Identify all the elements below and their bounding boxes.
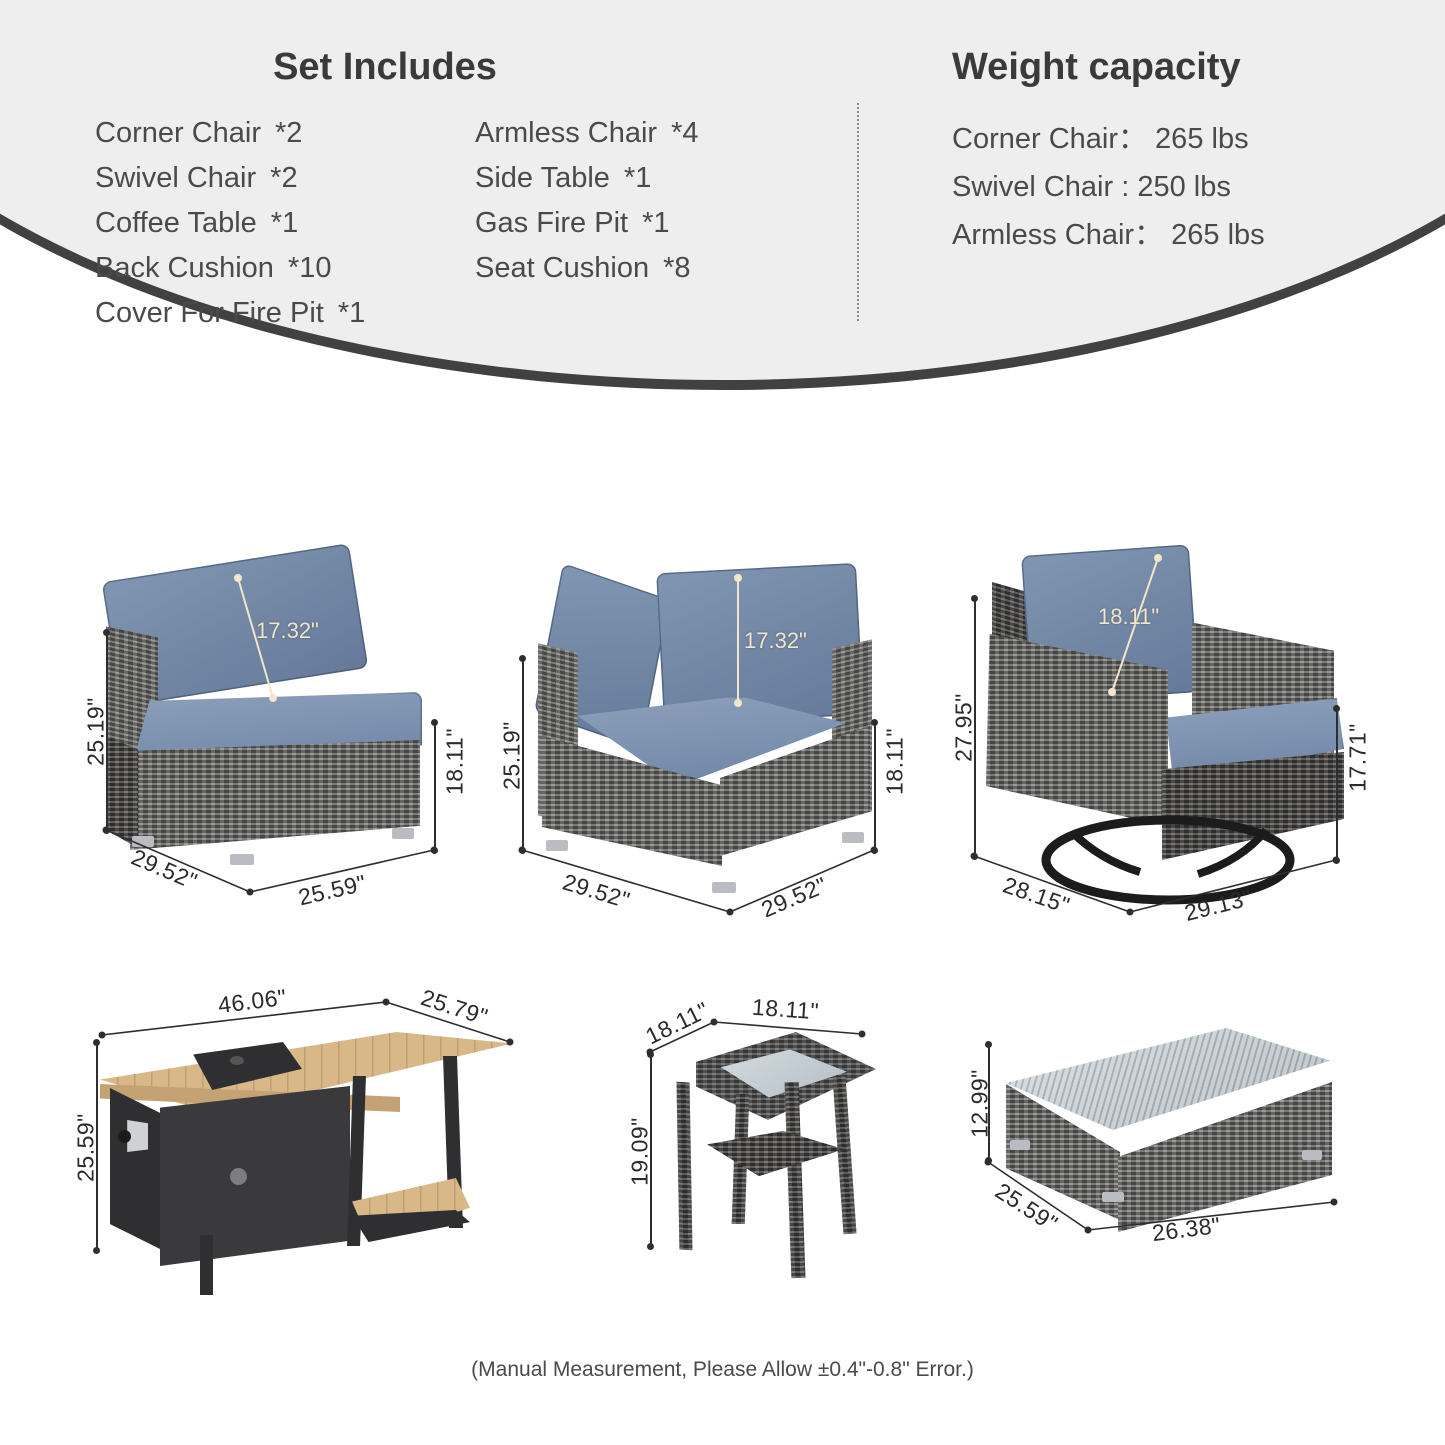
set-item-label: Gas Fire Pit: [475, 207, 628, 239]
list-item: Cover For Fire Pit*1: [95, 291, 475, 336]
dim-label-width: 18.11": [751, 994, 820, 1026]
dim-lines-footprint: [930, 530, 1380, 950]
dim-lines-footprint: [950, 1000, 1370, 1300]
product-armless-chair: 17.32" 25.19" 18.11" 29.52" 25.59": [70, 540, 490, 940]
dim-lines-top: [70, 980, 550, 1330]
product-coffee-table: 12.99" 25.59" 26.38": [950, 1000, 1370, 1300]
vertical-dotted-divider: [857, 103, 859, 321]
dim-label-height: 25.59": [73, 1106, 100, 1190]
header-banner: Set Includes Corner Chair*2 Armless Chai…: [0, 0, 1445, 420]
set-item-qty: *2: [275, 117, 302, 149]
set-item-qty: *4: [671, 117, 698, 149]
weight-capacity-title: Weight capacity: [952, 46, 1382, 89]
weight-capacity-section: Weight capacity Corner Chair： 265 lbs Sw…: [952, 46, 1382, 259]
list-item: [475, 291, 795, 336]
list-item: Corner Chair： 265 lbs: [952, 115, 1382, 163]
set-item-label: Armless Chair: [475, 117, 657, 149]
product-side-table: 18.11" 18.11" 19.09": [630, 990, 960, 1310]
set-includes-title: Set Includes: [95, 46, 675, 89]
dim-endpoint: [647, 1243, 654, 1250]
list-item: Gas Fire Pit*1: [475, 201, 795, 246]
list-item: Swivel Chair*2: [95, 156, 475, 201]
dim-lines-footprint: [480, 540, 920, 940]
set-item-label: Seat Cushion: [475, 252, 649, 284]
set-item-label: Coffee Table: [95, 207, 257, 239]
set-item-label: Back Cushion: [95, 252, 274, 284]
set-item-qty: *1: [624, 162, 651, 194]
set-item-qty: *1: [338, 297, 365, 329]
dim-endpoint: [93, 1247, 100, 1254]
dim-endpoint: [93, 1039, 100, 1046]
list-item: Armless Chair*4: [475, 111, 795, 156]
list-item: Corner Chair*2: [95, 111, 475, 156]
product-corner-chair: 17.32" 25.19" 18.11" 29.52" 29.52": [480, 540, 920, 940]
list-item: Back Cushion*10: [95, 246, 475, 291]
set-item-qty: *10: [288, 252, 332, 284]
set-item-label: Corner Chair: [95, 117, 261, 149]
list-item: Seat Cushion*8: [475, 246, 795, 291]
product-fire-pit-table: 46.06" 25.79" 25.59": [70, 980, 550, 1330]
dim-label-height: 19.09": [627, 1110, 654, 1194]
set-item-qty: *1: [642, 207, 669, 239]
dim-lines-footprint: [70, 540, 490, 940]
set-item-qty: *1: [271, 207, 298, 239]
set-item-label: Side Table: [475, 162, 610, 194]
set-item-label: Cover For Fire Pit: [95, 297, 324, 329]
list-item: Swivel Chair : 250 lbs: [952, 163, 1382, 211]
set-item-qty: *2: [270, 162, 297, 194]
banner-content: Set Includes Corner Chair*2 Armless Chai…: [0, 0, 1445, 350]
dim-endpoint: [647, 1051, 654, 1058]
set-includes-section: Set Includes Corner Chair*2 Armless Chai…: [95, 46, 825, 336]
set-includes-list: Corner Chair*2 Armless Chair*4 Swivel Ch…: [95, 111, 825, 336]
measurement-disclaimer: (Manual Measurement, Please Allow ±0.4"-…: [0, 1358, 1445, 1382]
weight-capacity-list: Corner Chair： 265 lbs Swivel Chair : 250…: [952, 115, 1382, 259]
set-item-label: Swivel Chair: [95, 162, 256, 194]
dim-lines-top: [630, 990, 960, 1310]
set-item-qty: *8: [663, 252, 690, 284]
product-swivel-chair: 18.11" 27.95" 17.71" 28.15" 29.13": [930, 530, 1380, 950]
list-item: Armless Chair： 265 lbs: [952, 211, 1382, 259]
list-item: Side Table*1: [475, 156, 795, 201]
list-item: Coffee Table*1: [95, 201, 475, 246]
